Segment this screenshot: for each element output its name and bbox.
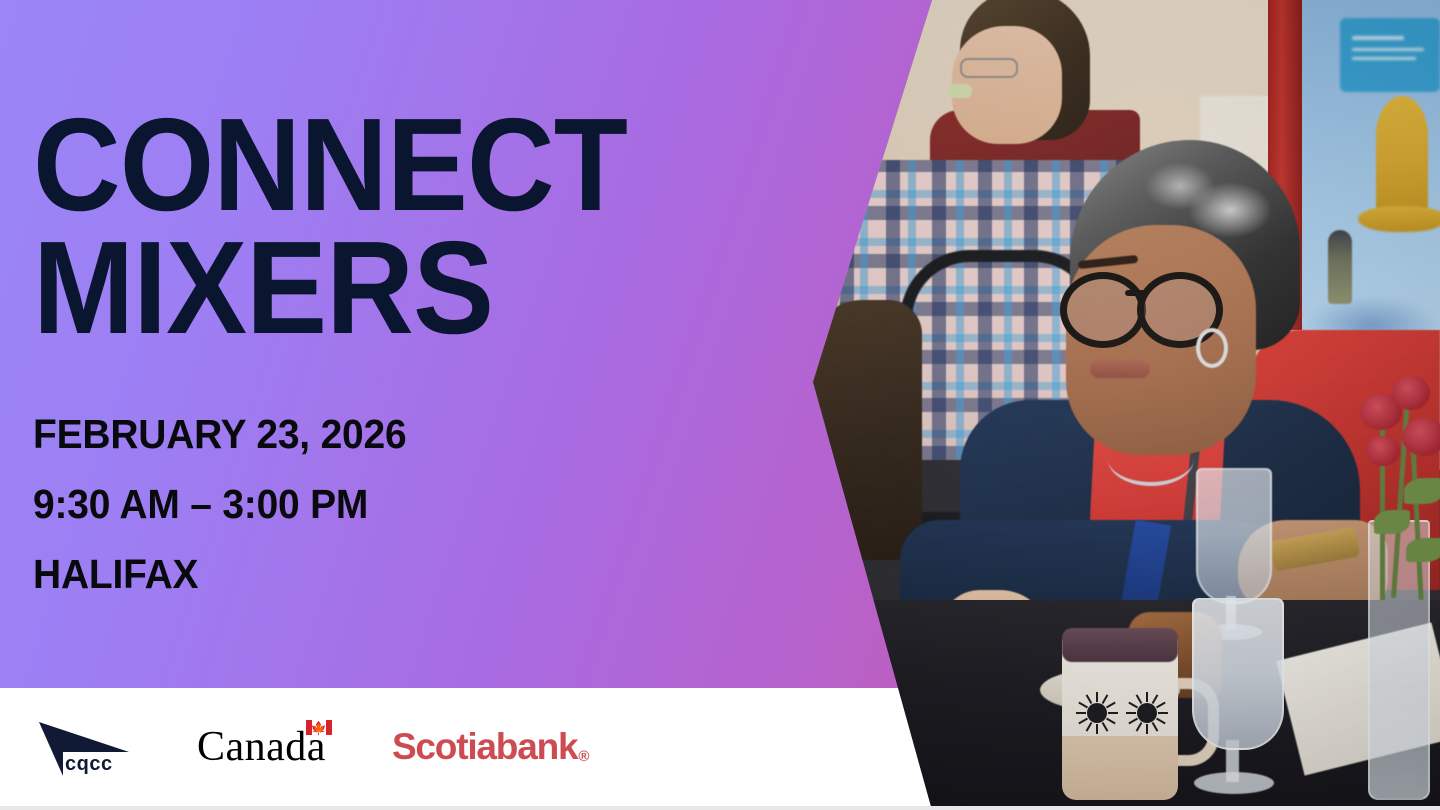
- photo-lamp-sculpture: [1376, 96, 1428, 214]
- maple-leaf-icon: 🍁: [311, 721, 327, 734]
- photo-subject-lips: [1090, 360, 1150, 378]
- registered-mark-icon: ®: [578, 748, 588, 765]
- photo-board-banner: [1340, 18, 1440, 92]
- sponsor-logo-bar: cqcc Canada 🍁 Scotiabank®: [0, 688, 900, 806]
- photo-subject-earring: [1196, 328, 1228, 368]
- photo-subject-eyeglass-left: [1060, 272, 1146, 348]
- photo-bollard: [1328, 230, 1352, 304]
- photo-mug-sun-face-right: [1128, 694, 1166, 732]
- logo-scotiabank-wordmark: Scotiabank: [392, 726, 577, 767]
- event-location: HALIFAX: [33, 554, 406, 595]
- event-time: 9:30 AM – 3:00 PM: [33, 484, 406, 525]
- logo-canada-wordmark-stem: Canad: [197, 724, 307, 770]
- photo-subject-eyeglass-bridge: [1125, 290, 1145, 296]
- logo-cqcc-wordmark: cqcc: [65, 753, 113, 776]
- photo-water-glass-back: [1196, 468, 1272, 604]
- canada-flag-icon: 🍁: [306, 720, 332, 735]
- photo-mug-lid: [1062, 628, 1178, 662]
- photo-flower-arrangement: [1340, 370, 1440, 630]
- event-date: FEBRUARY 23, 2026: [33, 414, 406, 455]
- event-details: FEBRUARY 23, 2026 9:30 AM – 3:00 PM HALI…: [33, 414, 406, 595]
- photo-background-person-glasses: [960, 58, 1018, 78]
- photo-mug-sun-face-left: [1078, 694, 1116, 732]
- page-title: CONNECT MIXERS: [33, 104, 732, 350]
- logo-scotiabank: Scotiabank®: [392, 726, 587, 768]
- logo-cqcc: cqcc: [33, 716, 141, 778]
- poster-canvas: CONNECT MIXERS FEBRUARY 23, 2026 9:30 AM…: [0, 0, 1440, 810]
- logo-canada: Canada 🍁: [197, 726, 346, 768]
- photo-water-glass-front: [1192, 598, 1284, 750]
- bottom-divider: [0, 806, 1440, 810]
- photo-background-person-snack: [948, 84, 972, 98]
- photo-lamp-base: [1358, 206, 1440, 232]
